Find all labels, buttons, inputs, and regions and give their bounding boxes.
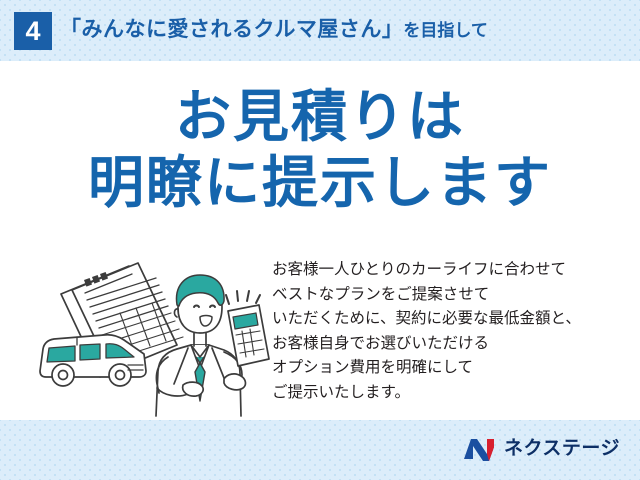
header-title-main: 「みんなに愛されるクルマ屋さん」 [60, 18, 403, 41]
headline-line-1: お見積りは [0, 85, 640, 151]
footer: ネクステージ [0, 420, 640, 480]
body-copy-line: ベストなプランをご提案させて [272, 282, 632, 307]
advertisement-banner: 4 「みんなに愛されるクルマ屋さん」を目指して お見積りは 明瞭に提示します お… [0, 0, 640, 480]
headline-line-2: 明瞭に提示します [0, 151, 640, 217]
body-copy-line: お客様自身でお選びいただける [272, 331, 632, 356]
salesman-illustration [28, 253, 272, 418]
header: 4 「みんなに愛されるクルマ屋さん」を目指して [0, 0, 640, 61]
salesman-illustration-svg [28, 253, 272, 418]
brand-name: ネクステージ [504, 436, 620, 462]
body-copy: お客様一人ひとりのカーライフに合わせて ベストなプランをご提案させて いただくた… [272, 257, 632, 404]
header-title-tail: を目指して [403, 21, 488, 40]
body-copy-line: オプション費用を明確にして [272, 355, 632, 380]
body-copy-line: いただくために、契約に必要な最低金額と、 [272, 306, 632, 331]
body-copy-line: お客様一人ひとりのカーライフに合わせて [272, 257, 632, 282]
step-number-badge: 4 [14, 12, 52, 50]
headline: お見積りは 明瞭に提示します [0, 85, 640, 217]
content-panel: お見積りは 明瞭に提示します お客様一人ひとりのカーライフに合わせて ベストなプ… [0, 61, 640, 420]
nextage-n-logo-icon [463, 436, 497, 462]
sparkle-icon [226, 291, 260, 304]
brand-logo[interactable]: ネクステージ [463, 436, 620, 462]
header-title: 「みんなに愛されるクルマ屋さん」を目指して [60, 14, 488, 47]
body-copy-line: ご提示いたします。 [272, 380, 632, 405]
